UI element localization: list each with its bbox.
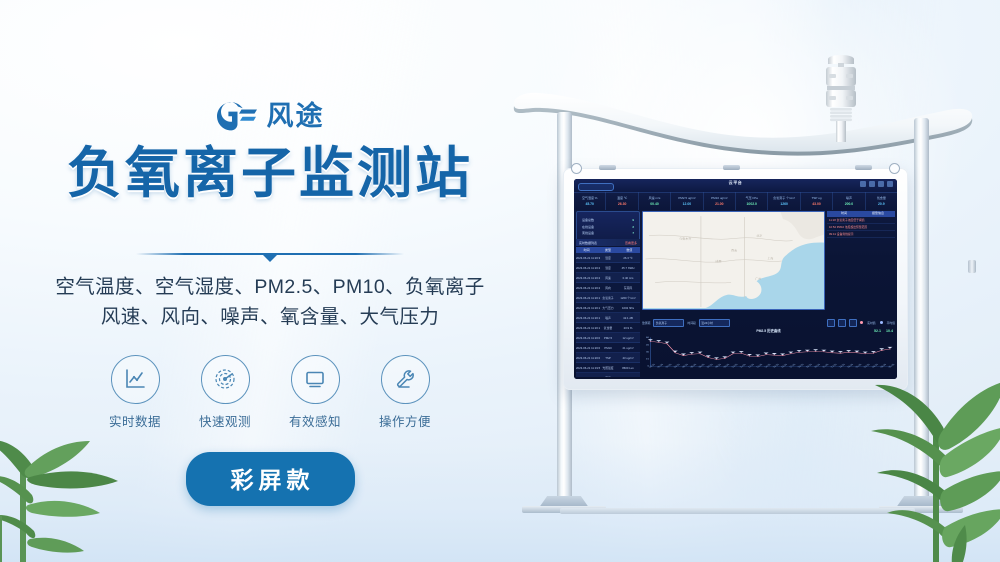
metric-value: 45.70 <box>585 202 594 206</box>
table-row[interactable]: 2023-06-21 11:20:04PM1021 ug/m³ <box>576 343 640 353</box>
svg-text:11:00: 11:00 <box>738 363 747 368</box>
table-cell: 12 ug/m³ <box>616 336 640 340</box>
svg-text:13:00: 13:00 <box>755 363 764 368</box>
feature-circle <box>111 355 160 404</box>
table-cell: 2023-06-21 11:20:28 <box>576 266 600 270</box>
metric-label: 风速 m/s <box>649 196 661 200</box>
table-row[interactable]: 2023-06-21 11:20:19负氧离子1260 个/cm³ <box>576 293 640 303</box>
parameter-list-line-2: 风速、风向、噪声、氧含量、大气压力 <box>55 302 484 332</box>
table-row[interactable]: 2023-06-21 11:20:22风向东南风 <box>576 283 640 293</box>
data-table-column-header: 类型 <box>597 248 618 252</box>
alarm-column-header: 报警信息 <box>861 211 895 217</box>
table-row[interactable]: 2023-06-21 11:20:13噪声42.1 dB <box>576 313 640 323</box>
svg-text:05:00: 05:00 <box>887 363 895 368</box>
left-panel: 设备总数9在线设备2离线设备7 实时数据列表 查看更多 时间类型数值 2023-… <box>576 211 640 377</box>
brand-logo: 风途 <box>216 100 325 132</box>
table-cell: 0.0 mm <box>616 376 640 378</box>
svg-text:23:00: 23:00 <box>837 363 846 368</box>
table-row[interactable]: 2023-06-21 11:20:07PM2.512 ug/m³ <box>576 333 640 343</box>
chart-title: PM2.5 历史曲线 <box>642 328 895 333</box>
table-cell: 8600 Lux <box>616 366 640 370</box>
table-cell: 温度 <box>600 256 616 260</box>
table-cell: 光照强度 <box>600 366 616 370</box>
alarm-panel: 时间报警信息 11:18 负氧离子浓度低于阈值10:52 PM10 浓度超出预警… <box>827 211 895 271</box>
table-cell: 2023-06-21 11:20:04 <box>576 346 600 350</box>
table-cell: 风速 <box>600 276 616 280</box>
feature-circle <box>291 355 340 404</box>
svg-text:18:00: 18:00 <box>796 363 805 368</box>
svg-text:30: 30 <box>646 352 650 353</box>
header-icon-4[interactable] <box>887 181 893 187</box>
metric-item: 氧含量20.9 <box>866 192 897 210</box>
metric-label: PM10 ug/m³ <box>711 196 727 200</box>
svg-text:01:00: 01:00 <box>854 363 863 368</box>
chart-readout-value: 10.4 <box>886 329 893 333</box>
table-cell: 2023-06-21 11:20:22 <box>576 286 600 290</box>
chart-metric-select-value: 负氧离子 <box>656 321 667 325</box>
svg-text:06:00: 06:00 <box>697 363 706 368</box>
monitor-icon <box>303 367 327 391</box>
feature-label: 实时数据 <box>109 411 161 430</box>
table-row[interactable]: 2023-06-21 11:20:25风速0.40 m/s <box>576 273 640 283</box>
table-row[interactable]: 2023-06-21 11:19:55雨量0.0 mm <box>576 373 640 377</box>
ultrasonic-weather-sensor <box>818 52 864 142</box>
table-cell: 1260 个/cm³ <box>616 296 640 300</box>
alarm-text: 10:52 PM10 浓度超出预警范围 <box>829 225 867 229</box>
data-table-header: 实时数据列表 查看更多 <box>576 239 640 246</box>
table-cell: 2023-06-21 11:20:16 <box>576 306 600 310</box>
device-stats-box: 设备总数9在线设备2离线设备7 <box>576 211 640 242</box>
svg-text:17:00: 17:00 <box>788 363 797 368</box>
svg-text:广州: 广州 <box>755 277 761 281</box>
table-cell: 2023-06-21 11:20:01 <box>576 356 600 360</box>
svg-text:03:00: 03:00 <box>672 363 681 368</box>
marketing-text-column: 风途 负氧离子监测站 空气温度、空气湿度、PM2.5、PM10、负氧离子 风速、… <box>0 0 540 562</box>
table-cell: 东南风 <box>616 286 640 290</box>
divider-triangle <box>262 254 278 262</box>
metric-value: 21.00 <box>715 202 724 206</box>
title-divider <box>136 253 404 255</box>
support-post-right <box>914 118 929 500</box>
chart-legend-dot <box>880 321 883 324</box>
table-cell: 噪声 <box>600 316 616 320</box>
table-cell: 2023-06-21 11:19:55 <box>576 376 600 378</box>
poster-stage: 风途 负氧离子监测站 空气温度、空气湿度、PM2.5、PM10、负氧离子 风速、… <box>0 0 1000 562</box>
chart-range-select-value: 近24小时 <box>701 321 713 325</box>
header-icon-3[interactable] <box>878 181 884 187</box>
metric-item: 噪声200.0 <box>833 192 865 210</box>
metric-value: 12.00 <box>683 202 692 206</box>
svg-text:上海: 上海 <box>767 256 773 260</box>
table-cell: 1002 hPa <box>616 306 640 310</box>
chart-readout: 52.110.4 <box>874 329 893 333</box>
table-cell: 20.9 % <box>616 326 640 330</box>
table-cell: 氧含量 <box>600 326 616 330</box>
alarm-panel-columns: 时间报警信息 <box>827 211 895 217</box>
metric-item: PM10 ug/m³21.00 <box>704 192 736 210</box>
metric-label: 噪声 <box>846 196 852 200</box>
data-table-title: 实时数据列表 <box>579 241 597 245</box>
parameter-list-line-1: 空气温度、空气湿度、PM2.5、PM10、负氧离子 <box>55 272 484 302</box>
table-cell: 43 ug/m³ <box>616 356 640 360</box>
metric-value: 1260 <box>780 202 788 206</box>
metric-label: 氧含量 <box>877 196 886 200</box>
radar-signal-icon <box>213 367 237 391</box>
metric-label: 温度 ℃ <box>617 196 627 200</box>
metric-item: 空气湿度 %45.70 <box>574 192 606 210</box>
metric-item: 风速 m/s00.40 <box>639 192 671 210</box>
led-display-screen[interactable]: 云平台 空气湿度 %45.70温度 ℃26.30风速 m/s00.40PM2.5… <box>574 179 897 379</box>
metric-label: PM2.5 ug/m³ <box>678 196 695 200</box>
table-cell: 2023-06-21 11:19:58 <box>576 366 600 370</box>
table-row[interactable]: 2023-06-21 11:19:58光照强度8600 Lux <box>576 363 640 373</box>
svg-text:20:00: 20:00 <box>812 363 821 368</box>
data-table-more-link[interactable]: 查看更多 <box>625 241 637 245</box>
svg-text:02:00: 02:00 <box>862 363 871 368</box>
svg-text:04:00: 04:00 <box>680 363 689 368</box>
dashboard-header-icons[interactable] <box>860 181 893 187</box>
svg-text:12:00: 12:00 <box>746 363 755 368</box>
dashboard-body: 设备总数9在线设备2离线设备7 实时数据列表 查看更多 时间类型数值 2023-… <box>574 210 897 379</box>
canopy-mount-3 <box>855 165 872 170</box>
table-cell: 雨量 <box>600 376 616 378</box>
svg-text:22:00: 22:00 <box>829 363 838 368</box>
china-station-map[interactable]: 北京 上海 广州 成都 西安 乌鲁木齐 <box>642 211 825 310</box>
alarm-row[interactable]: 11:18 负氧离子浓度低于阈值 <box>827 217 895 224</box>
table-cell: 45.7 %RH <box>616 266 640 270</box>
svg-text:10:00: 10:00 <box>730 363 739 368</box>
wrench-icon <box>393 367 417 391</box>
metric-label: 气压 hPa <box>746 196 758 200</box>
metric-label: 空气湿度 % <box>582 196 598 200</box>
metric-label: 负氧离子 个/cm³ <box>773 196 795 200</box>
table-cell: PM2.5 <box>600 336 616 340</box>
table-cell: 2023-06-21 11:20:25 <box>576 276 600 280</box>
hanger-ring-right <box>889 163 900 174</box>
svg-text:09:00: 09:00 <box>722 363 731 368</box>
table-cell: 2023-06-21 11:20:07 <box>576 336 600 340</box>
table-cell: PM10 <box>600 346 616 350</box>
table-row[interactable]: 2023-06-21 11:20:01TSP43 ug/m³ <box>576 353 640 363</box>
svg-text:02:00: 02:00 <box>664 363 673 368</box>
chart-view-button-1[interactable] <box>827 319 835 327</box>
metric-value: 00.40 <box>650 202 659 206</box>
table-cell: 2023-06-21 11:20:19 <box>576 296 600 300</box>
color-screen-model-button[interactable]: 彩屏款 <box>186 452 355 506</box>
chart-legend-label: 实时值 <box>867 321 875 325</box>
feature-circle <box>201 355 250 404</box>
table-cell: 26.3 ℃ <box>616 256 640 260</box>
chart-filter-label-1: 监测项 <box>642 321 650 325</box>
metric-label: TSP ug <box>812 196 822 200</box>
svg-text:01:00: 01:00 <box>656 363 665 368</box>
svg-text:成都: 成都 <box>715 259 721 263</box>
metric-value: 43.00 <box>812 202 821 206</box>
display-cabinet: 云平台 空气湿度 %45.70温度 ℃26.30风速 m/s00.40PM2.5… <box>563 168 908 390</box>
metric-item: TSP ug43.00 <box>801 192 833 210</box>
table-cell: 0.40 m/s <box>616 276 640 280</box>
feature-item-realtime-data[interactable]: 实时数据 <box>107 355 163 430</box>
svg-text:14:00: 14:00 <box>763 363 772 368</box>
device-stat-value: 7 <box>632 231 634 235</box>
chart-legend-dot <box>860 321 863 324</box>
canopy-mount-1 <box>599 165 616 170</box>
brand-name: 风途 <box>267 103 325 130</box>
alarm-text: 11:18 负氧离子浓度低于阈值 <box>829 218 865 222</box>
chart-range-select[interactable]: 近24小时 <box>699 319 730 327</box>
chart-legend: 实时值平均值 <box>860 321 895 325</box>
map-graphic: 北京 上海 广州 成都 西安 乌鲁木齐 <box>643 212 824 309</box>
hanger-ring-left <box>571 163 582 174</box>
metric-value: 200.0 <box>845 202 854 206</box>
parameter-list: 空气温度、空气湿度、PM2.5、PM10、负氧离子 风速、风向、噪声、氧含量、大… <box>55 272 484 332</box>
feature-label: 快速观测 <box>199 411 251 430</box>
data-table-column-header: 数值 <box>619 248 640 252</box>
device-stat-row: 离线设备7 <box>582 231 634 235</box>
table-row[interactable]: 2023-06-21 11:20:10氧含量20.9 % <box>576 323 640 333</box>
svg-text:19:00: 19:00 <box>804 363 813 368</box>
device-stat-label: 离线设备 <box>582 231 594 235</box>
table-cell: 大气压力 <box>600 306 616 310</box>
device-stat-row: 设备总数9 <box>582 218 634 222</box>
feature-item-fast-observation[interactable]: 快速观测 <box>197 355 253 430</box>
chart-filter-label-2: 时间段 <box>687 321 695 325</box>
svg-text:07:00: 07:00 <box>705 363 714 368</box>
chart-legend-label: 平均值 <box>887 321 895 325</box>
feature-row: 实时数据 快速观测 <box>107 355 433 430</box>
metric-item: PM2.5 ug/m³12.00 <box>671 192 703 210</box>
svg-text:24:00: 24:00 <box>846 363 855 368</box>
alarm-panel-rows: 11:18 负氧离子浓度低于阈值10:52 PM10 浓度超出预警范围09:41… <box>827 217 895 238</box>
table-cell: 42.1 dB <box>616 316 640 320</box>
metric-item: 温度 ℃26.30 <box>606 192 638 210</box>
chart-metric-select[interactable]: 负氧离子 <box>653 319 684 327</box>
data-table-rows: 2023-06-21 11:20:31温度26.3 ℃2023-06-21 11… <box>576 253 640 377</box>
chart-toolbar: 监测项 负氧离子 时间段 近24小时 <box>642 319 895 327</box>
data-table-column-header: 时间 <box>576 248 597 252</box>
svg-text:03:00: 03:00 <box>870 363 879 368</box>
alarm-column-header: 时间 <box>827 211 861 217</box>
feature-circle <box>381 355 430 404</box>
svg-text:乌鲁木齐: 乌鲁木齐 <box>679 237 691 241</box>
page-title: 负氧离子监测站 <box>67 144 473 202</box>
cabinet-side-latch <box>968 260 976 273</box>
metric-item: 气压 hPa1002.0 <box>736 192 768 210</box>
svg-text:15:00: 15:00 <box>771 363 780 368</box>
table-cell: 2023-06-21 11:20:31 <box>576 256 600 260</box>
chart-view-button-3[interactable] <box>849 319 857 327</box>
chart-readout-value: 52.1 <box>874 329 881 333</box>
canopy-mount-2 <box>723 165 740 170</box>
metrics-bar: 空气湿度 %45.70温度 ℃26.30风速 m/s00.40PM2.5 ug/… <box>574 192 897 210</box>
table-row[interactable]: 2023-06-21 11:20:16大气压力1002 hPa <box>576 303 640 313</box>
alarm-row[interactable]: 09:41 设备离线提示 <box>827 231 895 238</box>
device-stat-row: 在线设备2 <box>582 225 634 229</box>
table-cell: 2023-06-21 11:20:13 <box>576 316 600 320</box>
device-stat-value: 2 <box>632 225 634 229</box>
table-row[interactable]: 2023-06-21 11:20:28湿度45.7 %RH <box>576 263 640 273</box>
svg-text:15: 15 <box>646 359 650 360</box>
station-selector[interactable] <box>578 183 614 191</box>
chart-toolbar-right: 实时值平均值 <box>827 319 895 327</box>
svg-text:21:00: 21:00 <box>821 363 830 368</box>
wave-canopy <box>508 88 978 158</box>
line-chart-icon <box>123 367 147 391</box>
device-stat-label: 设备总数 <box>582 218 594 222</box>
table-cell: TSP <box>600 356 616 360</box>
history-chart-panel: 监测项 负氧离子 时间段 近24小时 <box>642 319 895 377</box>
alarm-row[interactable]: 10:52 PM10 浓度超出预警范围 <box>827 224 895 231</box>
alarm-text: 09:41 设备离线提示 <box>829 232 854 236</box>
table-cell: 湿度 <box>600 266 616 270</box>
fengtu-g-wind-logo-icon <box>216 100 260 132</box>
device-stat-label: 在线设备 <box>582 225 594 229</box>
table-cell: 风向 <box>600 286 616 290</box>
svg-text:北京: 北京 <box>756 234 762 238</box>
device-stat-value: 9 <box>632 218 634 222</box>
feature-label: 操作方便 <box>379 411 431 430</box>
metric-item: 负氧离子 个/cm³1260 <box>768 192 800 210</box>
history-line-chart: 00:0001:0002:0003:0004:0005:0006:0007:00… <box>642 335 895 377</box>
cloud-platform-dashboard: 云平台 空气湿度 %45.70温度 ℃26.30风速 m/s00.40PM2.5… <box>574 179 897 379</box>
chart-view-button-2[interactable] <box>838 319 846 327</box>
svg-text:04:00: 04:00 <box>879 363 888 368</box>
table-cell: 21 ug/m³ <box>616 346 640 350</box>
svg-text:08:00: 08:00 <box>713 363 722 368</box>
table-row[interactable]: 2023-06-21 11:20:31温度26.3 ℃ <box>576 253 640 263</box>
feature-item-effective-sensing[interactable]: 有效感知 <box>287 355 343 430</box>
svg-text:00:00: 00:00 <box>647 363 656 368</box>
feature-label: 有效感知 <box>289 411 341 430</box>
svg-text:45: 45 <box>646 345 650 346</box>
svg-text:16:00: 16:00 <box>779 363 788 368</box>
dashboard-header: 云平台 <box>574 179 897 193</box>
svg-text:05:00: 05:00 <box>689 363 698 368</box>
feature-item-easy-operation[interactable]: 操作方便 <box>377 355 433 430</box>
table-cell: 负氧离子 <box>600 296 616 300</box>
header-icon-1[interactable] <box>860 181 866 187</box>
table-cell: 2023-06-21 11:20:10 <box>576 326 600 330</box>
metric-value: 1002.0 <box>747 202 757 206</box>
monitoring-station-illustration: 云平台 空气湿度 %45.70温度 ℃26.30风速 m/s00.40PM2.5… <box>500 0 1000 562</box>
metric-value: 20.9 <box>878 202 885 206</box>
svg-text:60: 60 <box>646 338 650 339</box>
header-icon-2[interactable] <box>869 181 875 187</box>
svg-text:西安: 西安 <box>731 248 737 252</box>
ground-cross-bar <box>560 508 915 514</box>
dashboard-title: 云平台 <box>729 180 743 186</box>
metric-value: 26.30 <box>618 202 627 206</box>
